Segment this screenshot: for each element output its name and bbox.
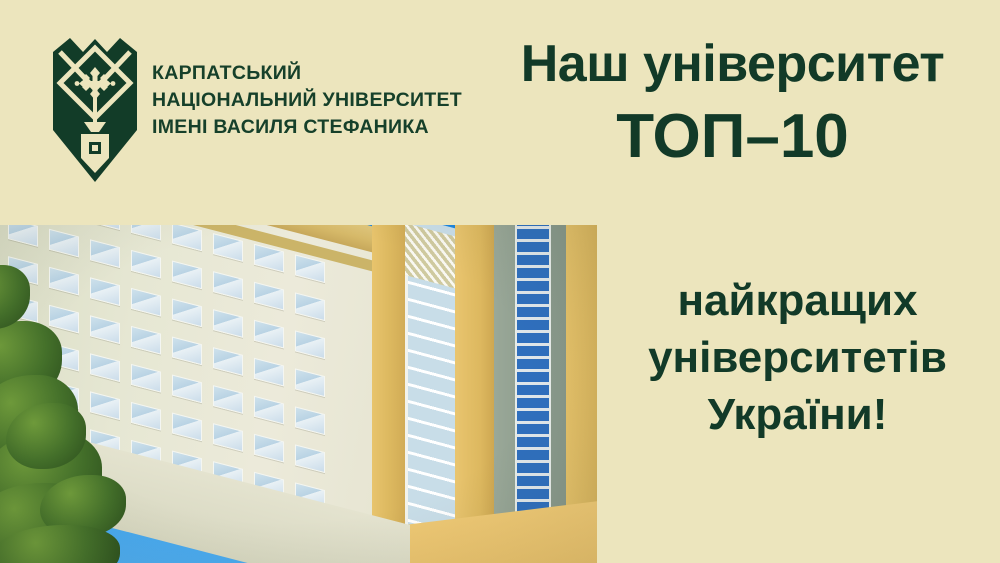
poster-canvas: КАРПАТСЬКИЙ НАЦІОНАЛЬНИЙ УНІВЕРСИТЕТ ІМЕ… [0, 0, 1000, 563]
karpatskyi-university-emblem-icon [52, 34, 138, 186]
subhead: найкращих університетів України! [600, 272, 995, 444]
headline-line-2-top10: ТОП–10 [470, 104, 995, 169]
building-pier-a [455, 225, 497, 563]
logo-line-2: НАЦІОНАЛЬНИЙ УНІВЕРСИТЕТ [152, 87, 462, 114]
headline-line-1: Наш університет [470, 38, 995, 90]
building-pier-left [372, 225, 408, 563]
subhead-line-3: України! [600, 386, 995, 443]
logo-wordmark: КАРПАТСЬКИЙ НАЦІОНАЛЬНИЙ УНІВЕРСИТЕТ ІМЕ… [152, 60, 462, 141]
subhead-line-1: найкращих [600, 272, 995, 329]
logo-line-1: КАРПАТСЬКИЙ [152, 60, 462, 87]
subhead-line-2: університетів [600, 329, 995, 386]
headline: Наш університет ТОП–10 [470, 38, 995, 169]
logo-line-3: ІМЕНІ ВАСИЛЯ СТЕФАНИКА [152, 114, 462, 141]
university-building-photo [0, 225, 597, 563]
university-logo: КАРПАТСЬКИЙ НАЦІОНАЛЬНИЙ УНІВЕРСИТЕТ ІМЕ… [52, 34, 462, 186]
